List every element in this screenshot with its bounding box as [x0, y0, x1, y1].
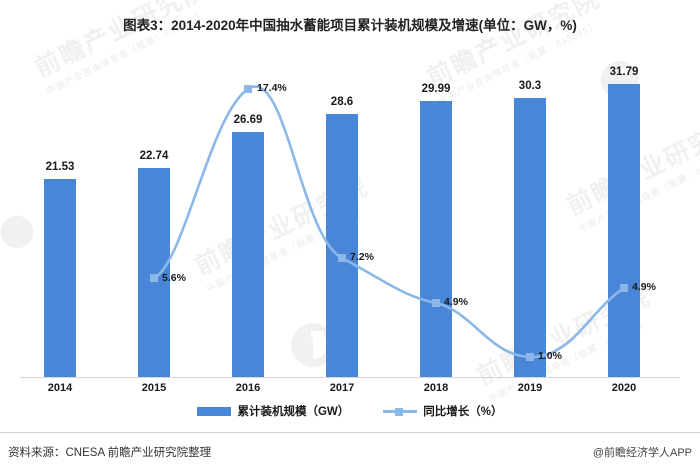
x-tick-2020: 2020: [584, 382, 664, 394]
line-marker-2020: [620, 284, 628, 292]
legend-item-installed-capacity[interactable]: 累计装机规模（GW）: [197, 403, 349, 419]
growth-value-2016: 17.4%: [257, 82, 287, 94]
legend-line-marker-icon: [383, 406, 417, 416]
page-title: 图表3：2014-2020年中国抽水蓄能项目累计装机规模及增速(单位：GW，%): [0, 14, 700, 34]
x-tick-2016: 2016: [208, 382, 288, 394]
line-marker-2017: [338, 254, 346, 262]
footer-divider: [0, 432, 700, 433]
x-tick-2017: 2017: [302, 382, 382, 394]
growth-value-2020: 4.9%: [632, 281, 656, 293]
legend-label-installed-capacity: 累计装机规模（GW）: [237, 403, 349, 419]
legend-label-growth-rate: 同比增长（%）: [423, 403, 502, 419]
plot-area: 21.53 22.74 26.69 28.6 29.99 30.3 31.79 …: [20, 58, 680, 378]
growth-value-2019: 1.0%: [538, 350, 562, 362]
line-marker-2018: [432, 299, 440, 307]
growth-value-2018: 4.9%: [444, 296, 468, 308]
legend-bar-swatch-icon: [197, 407, 231, 416]
x-tick-2014: 2014: [20, 382, 100, 394]
line-marker-2015: [150, 274, 158, 282]
chart-card: 前瞻产业研究院 中国产业咨询领导者（股票：839599） 前瞻产业研究院 中国产…: [0, 0, 700, 474]
app-attribution: @前瞻经济学人APP: [593, 444, 692, 460]
chart-legend: 累计装机规模（GW） 同比增长（%）: [0, 400, 700, 422]
growth-value-2015: 5.6%: [162, 272, 186, 284]
line-marker-2019: [526, 353, 534, 361]
x-tick-2019: 2019: [490, 382, 570, 394]
growth-value-2017: 7.2%: [350, 251, 374, 263]
growth-line-series: [20, 58, 680, 378]
source-note: 资料来源：CNESA 前瞻产业研究院整理: [8, 444, 211, 460]
x-tick-2018: 2018: [396, 382, 476, 394]
x-axis-labels: 2014 2015 2016 2017 2018 2019 2020: [20, 382, 680, 400]
legend-item-growth-rate[interactable]: 同比增长（%）: [383, 403, 502, 419]
line-marker-2016: [244, 85, 252, 93]
x-tick-2015: 2015: [114, 382, 194, 394]
